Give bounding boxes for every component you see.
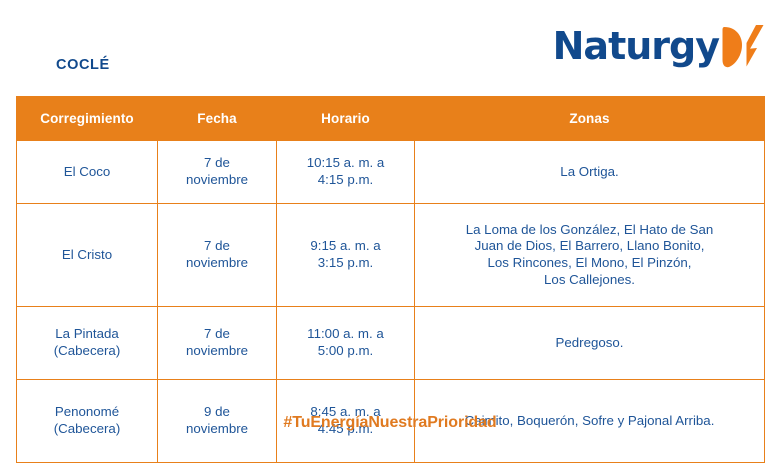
- cell-line: noviembre: [164, 343, 270, 360]
- table-row: La Pintada (Cabecera) 7 de noviembre 11:…: [17, 307, 765, 380]
- cell-fecha: 7 de noviembre: [158, 307, 277, 380]
- cell-line: 3:15 p.m.: [283, 255, 408, 272]
- cell-line: noviembre: [164, 255, 270, 272]
- cell-line: 9:15 a. m. a: [283, 238, 408, 255]
- cell-line: La Loma de los González, El Hato de San: [421, 222, 758, 239]
- cell-corregimiento: El Coco: [17, 141, 158, 204]
- cell-line: Pedregoso.: [421, 335, 758, 352]
- cell-line: (Cabecera): [23, 343, 151, 360]
- cell-corregimiento: La Pintada (Cabecera): [17, 307, 158, 380]
- cell-zonas: La Loma de los González, El Hato de San …: [415, 204, 765, 307]
- footer-hashtag: #TuEnergíaNuestraPrioridad: [0, 414, 780, 432]
- cell-line: 7 de: [164, 238, 270, 255]
- cell-horario: 11:00 a. m. a 5:00 p.m.: [277, 307, 415, 380]
- table-header: Corregimiento Fecha Horario Zonas: [17, 97, 765, 141]
- cell-line: 4:15 p.m.: [283, 172, 408, 189]
- brand-wordmark: Naturgy: [553, 27, 719, 65]
- cell-line: 11:00 a. m. a: [283, 326, 408, 343]
- cell-line: El Cristo: [23, 247, 151, 264]
- cell-line: La Ortiga.: [421, 164, 758, 181]
- outage-schedule-table: Corregimiento Fecha Horario Zonas El Coc…: [16, 96, 765, 463]
- naturgy-logo: Naturgy: [553, 18, 766, 74]
- cell-line: 5:00 p.m.: [283, 343, 408, 360]
- column-header-zonas: Zonas: [415, 97, 765, 141]
- table-row: El Cristo 7 de noviembre 9:15 a. m. a 3:…: [17, 204, 765, 307]
- cell-line: 10:15 a. m. a: [283, 155, 408, 172]
- page-header: COCLÉ Naturgy: [0, 0, 780, 96]
- table-row: El Coco 7 de noviembre 10:15 a. m. a 4:1…: [17, 141, 765, 204]
- cell-line: La Pintada: [23, 326, 151, 343]
- cell-zonas: Pedregoso.: [415, 307, 765, 380]
- cell-line: noviembre: [164, 172, 270, 189]
- naturgy-flame-icon: [720, 21, 766, 71]
- table-header-row: Corregimiento Fecha Horario Zonas: [17, 97, 765, 141]
- cell-horario: 10:15 a. m. a 4:15 p.m.: [277, 141, 415, 204]
- column-header-fecha: Fecha: [158, 97, 277, 141]
- column-header-horario: Horario: [277, 97, 415, 141]
- cell-line: Juan de Dios, El Barrero, Llano Bonito,: [421, 238, 758, 255]
- cell-horario: 9:15 a. m. a 3:15 p.m.: [277, 204, 415, 307]
- cell-zonas: La Ortiga.: [415, 141, 765, 204]
- cell-line: Los Rincones, El Mono, El Pinzón,: [421, 255, 758, 272]
- cell-fecha: 7 de noviembre: [158, 204, 277, 307]
- cell-line: 7 de: [164, 326, 270, 343]
- cell-line: 7 de: [164, 155, 270, 172]
- column-header-corregimiento: Corregimiento: [17, 97, 158, 141]
- cell-fecha: 7 de noviembre: [158, 141, 277, 204]
- cell-corregimiento: El Cristo: [17, 204, 158, 307]
- cell-line: El Coco: [23, 164, 151, 181]
- page-title: COCLÉ: [56, 58, 110, 73]
- cell-line: Los Callejones.: [421, 272, 758, 289]
